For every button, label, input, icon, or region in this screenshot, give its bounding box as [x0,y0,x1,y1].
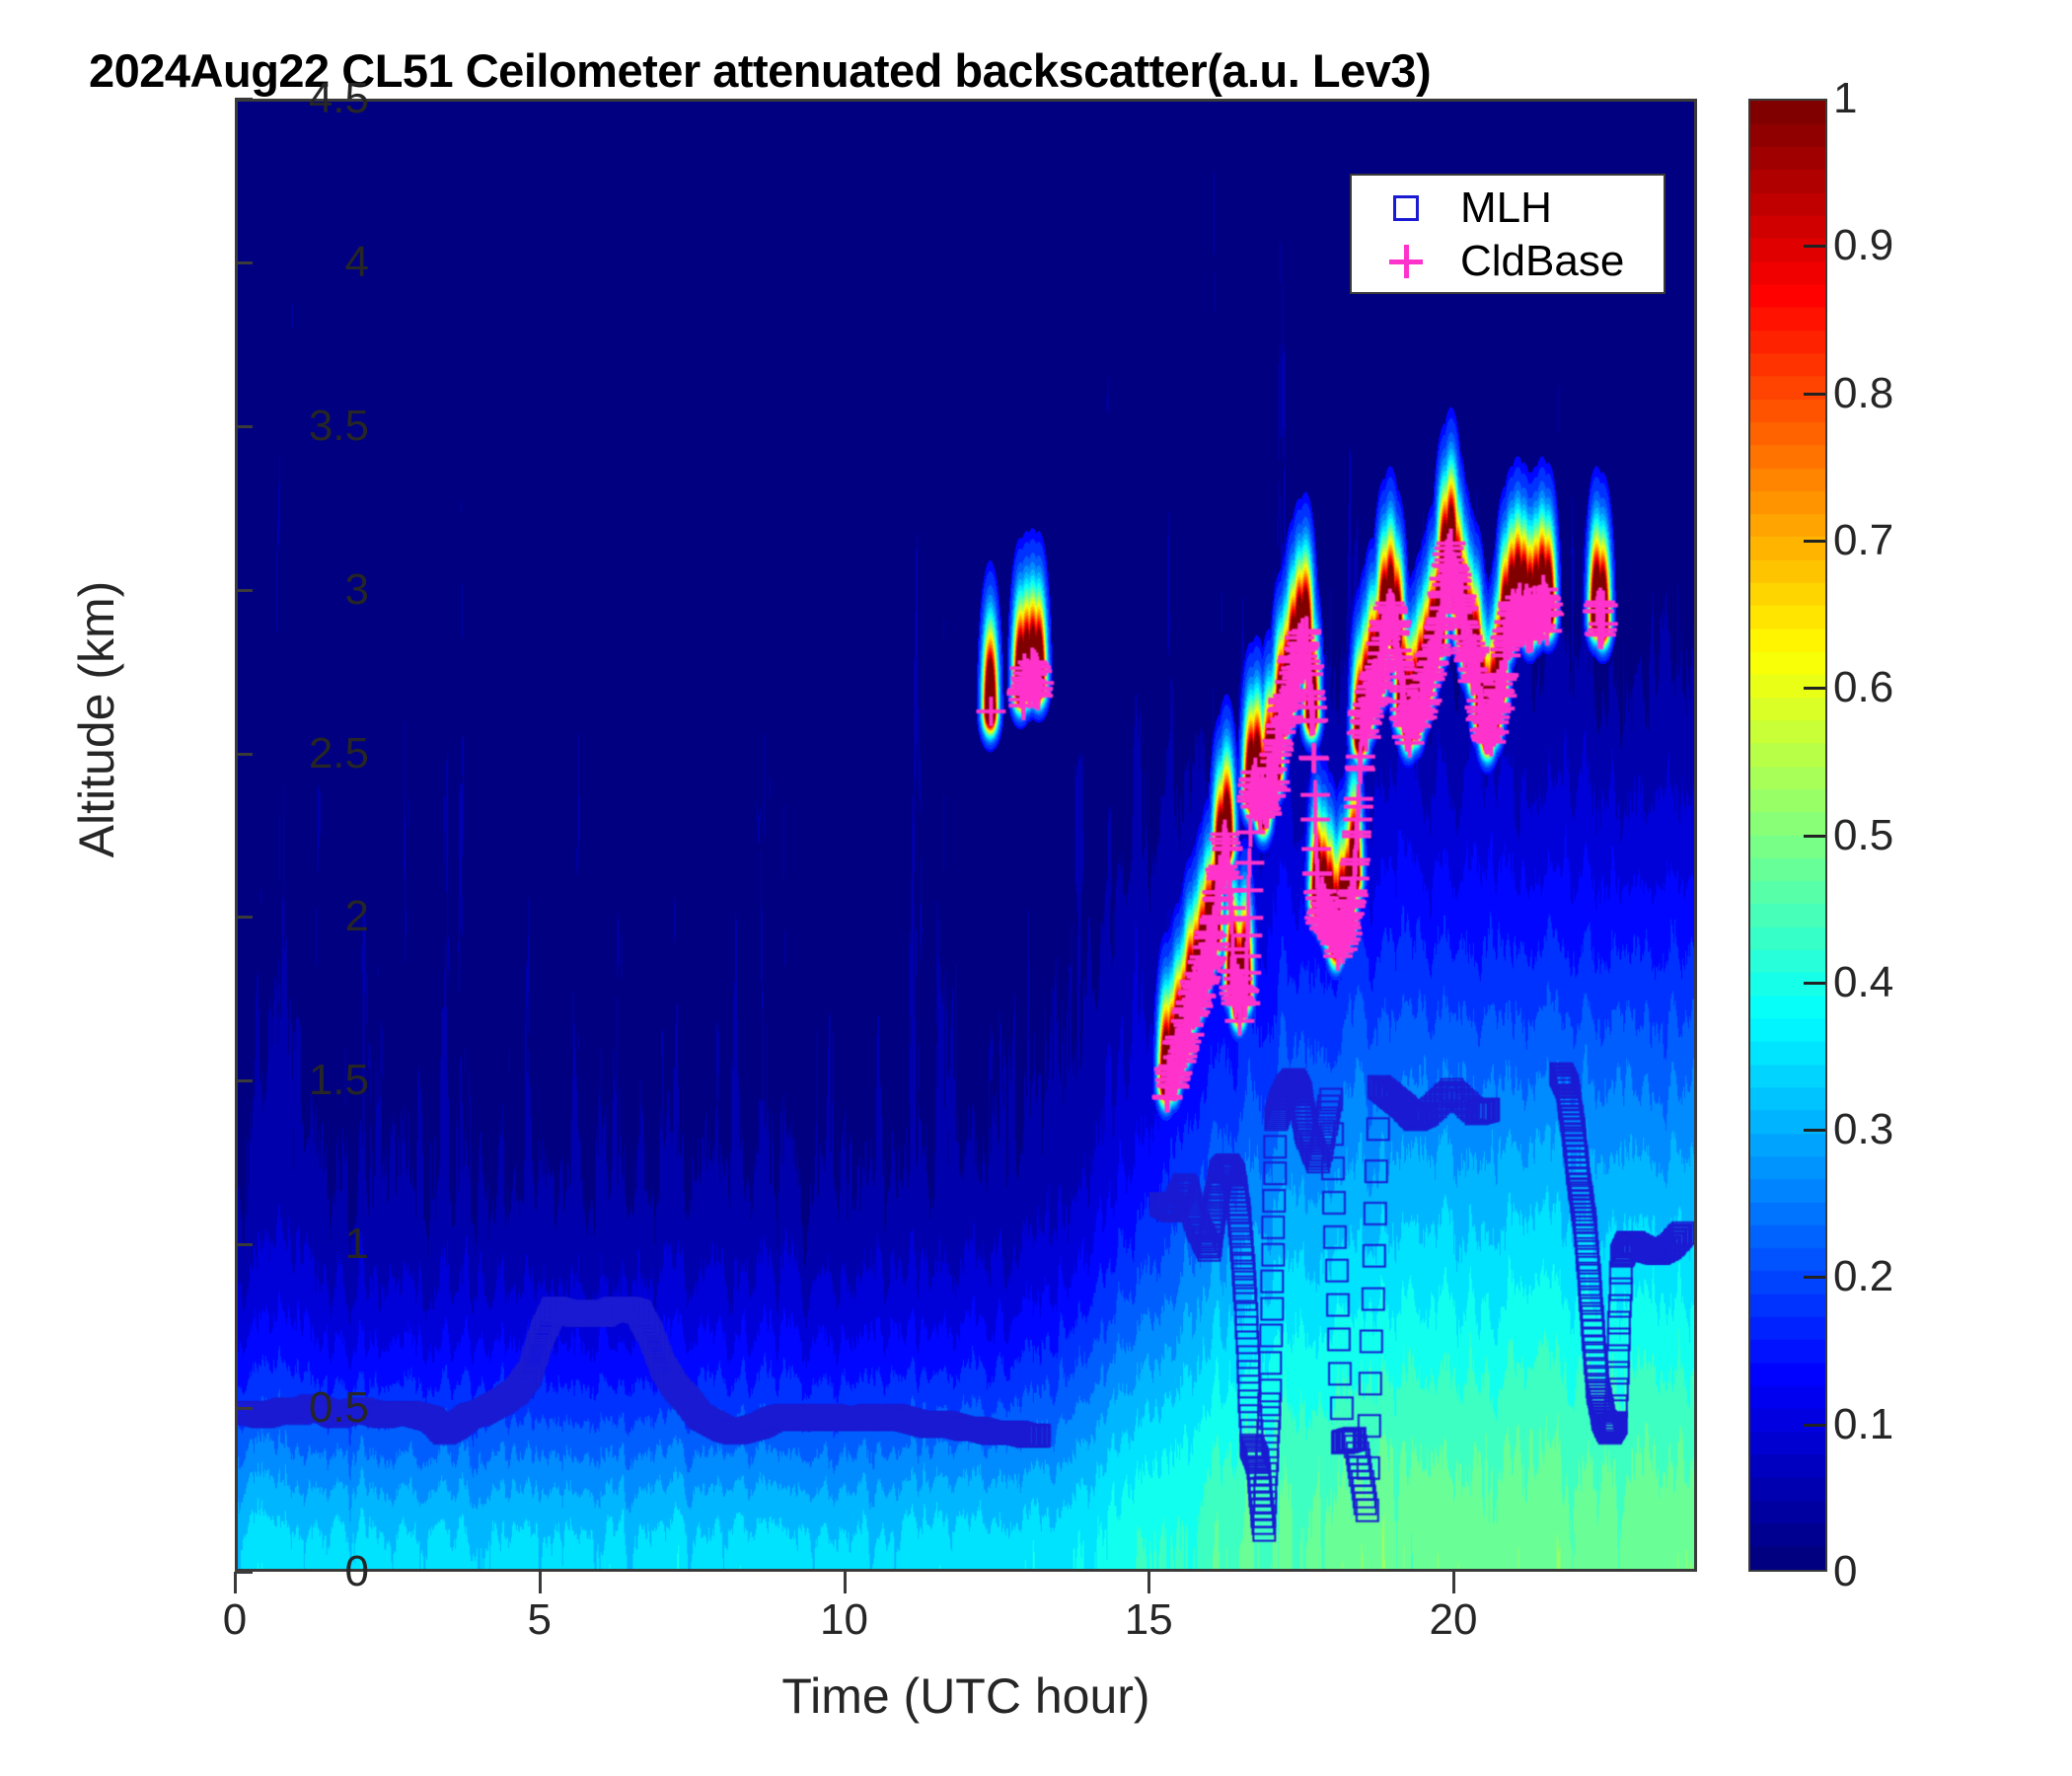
y-tick-mark [235,1407,253,1410]
y-tick-mark [235,1243,253,1246]
x-tick-mark [539,1572,542,1593]
colorbar-tick-mark [1804,687,1825,690]
colorbar-tick-mark [1804,540,1825,543]
colorbar-tick-label: 0.9 [1833,224,2031,267]
colorbar-tick-label: 1 [1833,77,2031,120]
y-tick-label: 0.5 [152,1386,369,1430]
y-tick-mark [235,1571,253,1574]
colorbar-tick-label: 0.2 [1833,1255,2031,1298]
marker-overlay [238,102,1694,1569]
plot-area [235,99,1697,1572]
colorbar-tick-label: 0.5 [1833,814,2031,857]
y-tick-mark [235,916,253,919]
y-tick-mark [235,589,253,592]
colorbar-tick-label: 0.4 [1833,961,2031,1004]
y-tick-label: 0 [152,1550,369,1593]
legend-label-mlh: MLH [1460,186,1552,230]
x-tick-mark [1452,1572,1455,1593]
y-tick-label: 4 [152,241,369,284]
y-tick-mark [235,425,253,428]
y-tick-mark [235,98,253,101]
y-tick-label: 2.5 [152,732,369,776]
colorbar-tick-label: 0 [1833,1550,2031,1593]
y-tick-mark [235,1079,253,1082]
legend-label-cldbase: CldBase [1460,240,1624,283]
x-tick-label: 20 [1355,1598,1552,1642]
y-axis-label: Altitude (km) [68,443,125,996]
legend-item-cldbase[interactable]: CldBase [1352,235,1664,288]
colorbar-tick-mark [1804,245,1825,248]
x-axis-label: Time (UTC hour) [235,1667,1697,1725]
colorbar-tick-label: 0.3 [1833,1108,2031,1151]
y-tick-label: 3.5 [152,405,369,448]
y-tick-label: 3 [152,568,369,612]
colorbar-tick-mark [1804,393,1825,396]
colorbar-tick-label: 0.6 [1833,666,2031,709]
x-tick-mark [234,1572,237,1593]
colorbar-tick-mark [1804,982,1825,985]
figure: 2024Aug22 CL51 Ceilometer attenuated bac… [0,0,2072,1776]
plus-marker-icon [1352,245,1460,278]
colorbar-tick-label: 0.1 [1833,1403,2031,1446]
colorbar-tick-label: 0.7 [1833,519,2031,562]
x-tick-mark [1147,1572,1150,1593]
y-tick-mark [235,261,253,264]
x-tick-label: 10 [746,1598,943,1642]
y-tick-label: 1.5 [152,1059,369,1102]
colorbar-tick-mark [1804,1424,1825,1427]
x-tick-label: 5 [441,1598,638,1642]
y-tick-label: 1 [152,1222,369,1266]
legend-item-mlh[interactable]: MLH [1352,182,1664,235]
legend[interactable]: MLH CldBase [1350,174,1665,294]
y-tick-label: 2 [152,895,369,938]
colorbar-tick-mark [1804,835,1825,838]
x-tick-label: 0 [136,1598,333,1642]
x-tick-mark [844,1572,847,1593]
colorbar-tick-mark [1804,1129,1825,1132]
y-tick-label: 4.5 [152,77,369,120]
square-marker-icon [1352,195,1460,221]
x-tick-label: 15 [1050,1598,1247,1642]
colorbar-tick-label: 0.8 [1833,372,2031,415]
colorbar-tick-mark [1804,1276,1825,1279]
y-tick-mark [235,753,253,756]
